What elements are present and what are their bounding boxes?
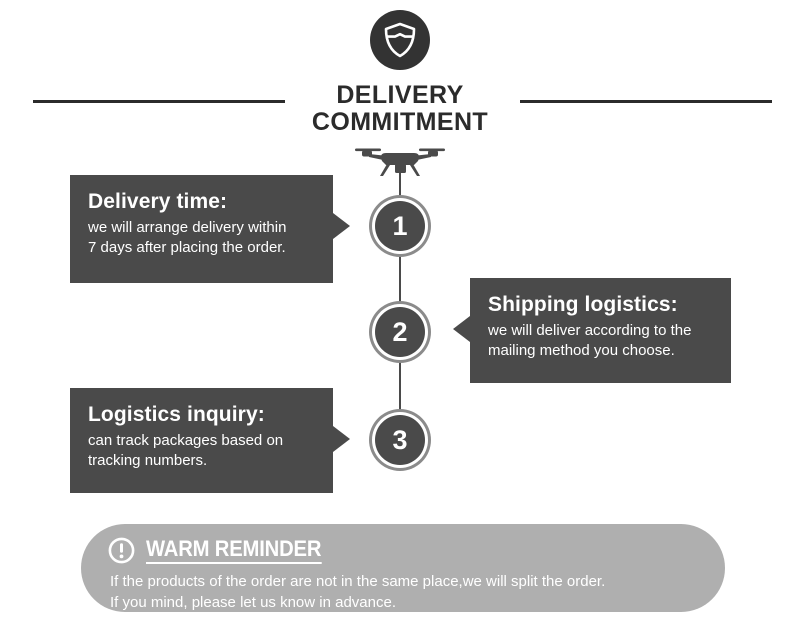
- page-title-line-2: COMMITMENT: [0, 109, 800, 136]
- step-callout-3-pointer: [333, 426, 350, 452]
- connector-line-step2-to-step3: [399, 348, 401, 420]
- warm-reminder-body-line-2: If you mind, please let us know in advan…: [110, 593, 725, 614]
- step-circle-2: 2: [375, 307, 425, 357]
- connector-line-drone-to-step1: [399, 170, 401, 205]
- delivery-commitment-infographic: DELIVERY COMMITMENT: [0, 0, 800, 636]
- shield-badge: [370, 10, 430, 70]
- step-callout-3: Logistics inquiry: can track packages ba…: [70, 388, 333, 493]
- step-callout-3-body: can track packages based on tracking num…: [88, 431, 315, 471]
- step-callout-2-title: Shipping logistics:: [488, 292, 713, 318]
- step-callout-2-body: we will deliver according to the mailing…: [488, 321, 713, 361]
- step-callout-1: Delivery time: we will arrange delivery …: [70, 175, 333, 283]
- step-callout-2-pointer: [453, 316, 470, 342]
- step-circle-1: 1: [375, 201, 425, 251]
- step-callout-1-body-line-1: we will arrange delivery within: [88, 218, 315, 238]
- step-callout-1-body-line-2: 7 days after placing the order.: [88, 238, 315, 258]
- step-callout-3-body-line-1: can track packages based on: [88, 431, 315, 451]
- step-callout-1-title: Delivery time:: [88, 189, 315, 215]
- warm-reminder-body-line-1: If the products of the order are not in …: [110, 572, 725, 593]
- step-callout-3-body-line-2: tracking numbers.: [88, 451, 315, 471]
- step-callout-1-body: we will arrange delivery within 7 days a…: [88, 218, 315, 258]
- step-circle-3: 3: [375, 415, 425, 465]
- step-callout-2-body-line-2: mailing method you choose.: [488, 341, 713, 361]
- warm-reminder-banner: WARM REMINDER If the products of the ord…: [81, 524, 725, 612]
- step-callout-1-pointer: [333, 213, 350, 239]
- page-title: DELIVERY COMMITMENT: [0, 82, 800, 136]
- warm-reminder-title: WARM REMINDER: [146, 537, 321, 564]
- step-callout-3-title: Logistics inquiry:: [88, 402, 315, 428]
- exclamation-circle-icon: [108, 537, 135, 564]
- warm-reminder-body: If the products of the order are not in …: [110, 572, 725, 613]
- page-title-line-1: DELIVERY: [0, 82, 800, 109]
- warm-reminder-header: WARM REMINDER: [108, 537, 725, 564]
- step-callout-2: Shipping logistics: we will deliver acco…: [470, 278, 731, 383]
- step-callout-2-body-line-1: we will deliver according to the: [488, 321, 713, 341]
- shield-icon: [383, 22, 417, 58]
